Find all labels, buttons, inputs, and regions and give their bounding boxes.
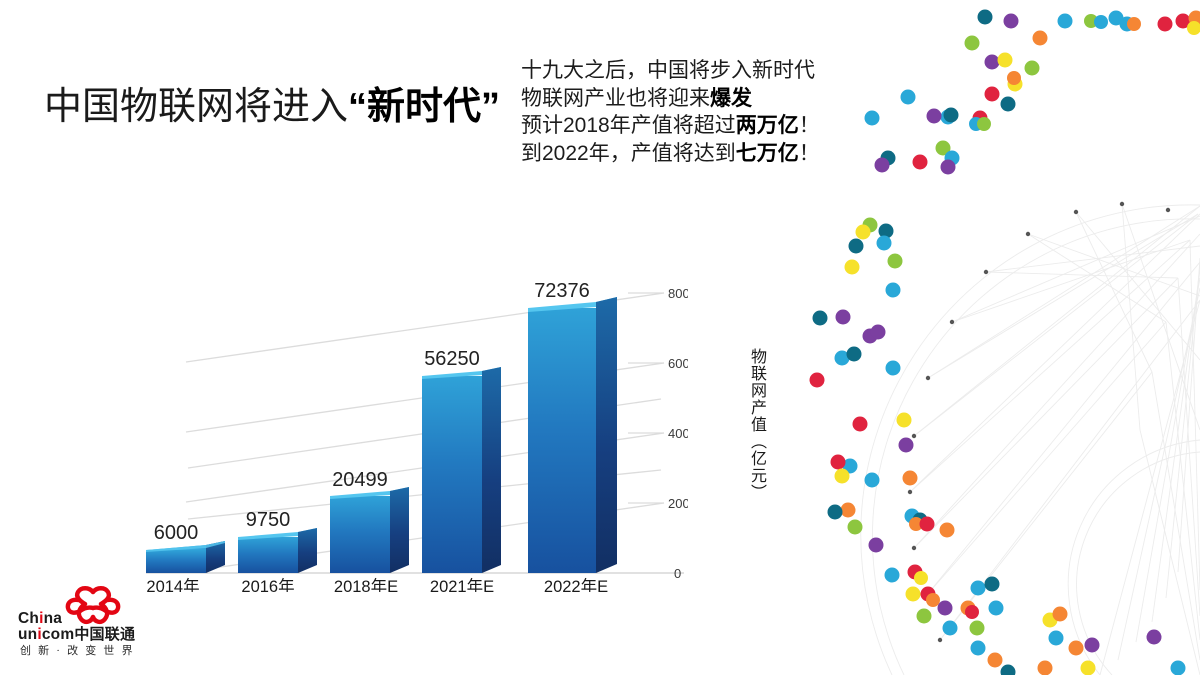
logo-text-cn: 中国联通 <box>74 626 135 643</box>
body-line-2-bold: 爆发 <box>710 87 752 110</box>
value-label-2018E: 20499 <box>332 469 388 491</box>
bar-2018E[interactable] <box>330 487 409 573</box>
arc-mesh-lines <box>861 204 1200 675</box>
bar-2022E-side <box>596 297 617 573</box>
network-arc-svg <box>800 0 1200 675</box>
slide-canvas: 中国物联网将进入“新时代” 十九大之后，中国将步入新时代 物联网产业也将迎来爆发… <box>0 0 1200 675</box>
china-unicom-logo: China unicom中国联通 创 新 · 改 变 世 界 <box>10 586 160 664</box>
body-line-4-bold: 七万亿 <box>736 142 799 165</box>
value-label-2022E: 72376 <box>534 280 590 302</box>
body-line-3-plain: 预计2018年产值将超过 <box>521 114 736 137</box>
ytick-label-60000: 60000 <box>668 356 688 371</box>
bar-2022E-front <box>528 308 596 573</box>
body-line-1-plain: 十九大之后，中国将步入新时代 <box>521 59 815 82</box>
body-line-2-plain: 物联网产业也将迎来 <box>521 87 710 110</box>
chart-y-axis-title: 物联网产值（亿元） <box>742 348 766 501</box>
logo-text-unicom: unicom中国联通 <box>18 627 135 643</box>
ytick-label-80000: 80000 <box>668 286 688 301</box>
bar-2021E[interactable] <box>422 367 501 573</box>
body-paragraph: 十九大之后，中国将步入新时代 物联网产业也将迎来爆发 预计2018年产值将超过两… <box>521 57 820 167</box>
bar-2016[interactable] <box>238 528 317 573</box>
chart-y-axis-title-text: 物联网产值（亿元） <box>748 348 765 501</box>
page-title: 中国物联网将进入“新时代” <box>44 83 500 131</box>
colored-dot-cluster <box>810 10 1200 675</box>
chart-svg: 6000 9750 20499 56250 72376 2014年 2016年 … <box>128 262 688 592</box>
iot-output-value-bar-chart: 6000 9750 20499 56250 72376 2014年 2016年 … <box>128 262 688 592</box>
logo-text-china: China <box>18 611 62 627</box>
bar-2014-front <box>146 550 206 573</box>
logo-i-dot-1: i <box>39 610 44 627</box>
page-title-emphasis: “新时代” <box>348 86 500 128</box>
unicom-knot-icon <box>65 586 121 626</box>
category-label-2018E: 2018年E <box>334 577 398 592</box>
bar-2016-side <box>298 528 317 573</box>
value-label-2014: 6000 <box>154 522 199 544</box>
bar-2021E-side <box>482 367 501 573</box>
value-label-2016: 9750 <box>246 509 291 531</box>
arc-node-dots <box>908 202 1170 642</box>
body-line-3: 预计2018年产值将超过两万亿！ <box>521 112 820 140</box>
ytick-label-0: 0 <box>674 566 681 581</box>
logo-i-dot-2: i <box>37 626 42 643</box>
body-line-4: 到2022年，产值将达到七万亿！ <box>521 140 820 168</box>
network-arc-graphic <box>800 0 1200 675</box>
ytick-label-40000: 40000 <box>668 426 688 441</box>
category-label-2022E: 2022年E <box>544 577 608 592</box>
bar-2014[interactable] <box>146 541 225 573</box>
bar-2021E-front <box>422 376 482 573</box>
body-line-1: 十九大之后，中国将步入新时代 <box>521 57 820 85</box>
ytick-label-20000: 20000 <box>668 496 688 511</box>
logo-tagline: 创 新 · 改 变 世 界 <box>20 645 135 658</box>
body-line-4-plain: 到2022年，产值将达到 <box>521 142 736 165</box>
value-label-2021E: 56250 <box>424 348 480 370</box>
body-line-2: 物联网产业也将迎来爆发 <box>521 85 820 113</box>
bar-2018E-side <box>390 487 409 573</box>
bar-2016-front <box>238 537 298 573</box>
bar-2018E-front <box>330 496 390 573</box>
page-title-normal: 中国物联网将进入 <box>44 86 348 128</box>
bar-2022E[interactable] <box>528 297 617 573</box>
category-label-2016: 2016年 <box>241 577 294 592</box>
body-line-3-bold: 两万亿 <box>736 114 799 137</box>
category-label-2021E: 2021年E <box>430 577 494 592</box>
